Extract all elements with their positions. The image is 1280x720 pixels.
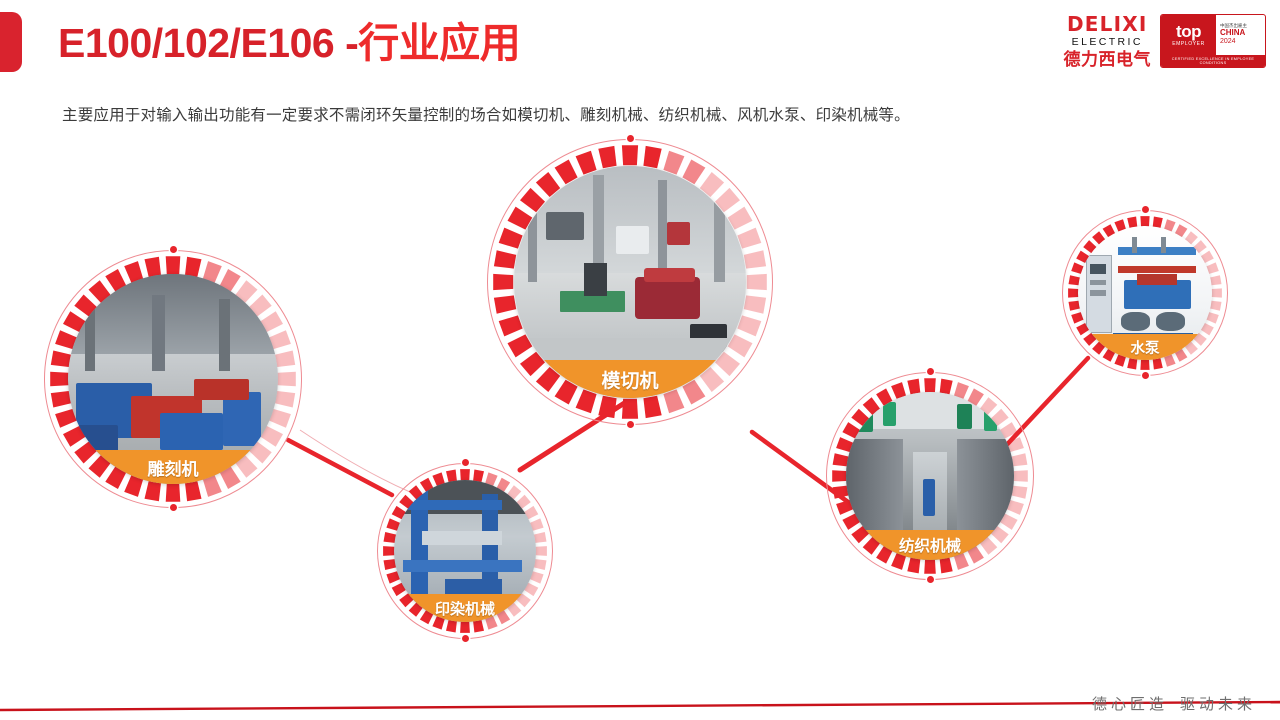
top-employer-top-text: top xyxy=(1176,23,1201,40)
node-photo: 水泵 xyxy=(1078,226,1212,360)
node-anchor-dot xyxy=(170,504,177,511)
node-photo: 模切机 xyxy=(514,166,746,398)
page-title-latin: E100/102/E106 - xyxy=(58,20,358,66)
node-photo: 纺织机械 xyxy=(846,392,1014,560)
top-employer-badge: top EMPLOYER 中国杰出雇主 CHINA 2024 CERTIFIED… xyxy=(1160,14,1266,68)
page-title: E100/102/E106 -行业应用 xyxy=(58,18,520,69)
delixi-brand-text: DELIXI xyxy=(1067,14,1148,34)
node-caption: 模切机 xyxy=(514,360,746,398)
delixi-chinese-text: 德力西电气 xyxy=(1064,51,1152,68)
logo-group: DELIXI ELECTRIC 德力西电气 top EMPLOYER 中国杰出雇… xyxy=(1064,14,1267,68)
node-caption-label: 水泵 xyxy=(1131,337,1160,358)
node-caption: 雕刻机 xyxy=(68,450,278,484)
node-caption: 印染机械 xyxy=(394,594,536,622)
top-employer-year: 2024 xyxy=(1220,38,1265,47)
footer-divider xyxy=(0,680,1280,720)
node-caption-label: 纺织机械 xyxy=(899,534,961,556)
node-anchor-dot xyxy=(170,246,177,253)
top-employer-employer-text: EMPLOYER xyxy=(1172,42,1205,47)
node-engraving[interactable]: 雕刻机 xyxy=(44,250,302,508)
top-employer-info: 中国杰出雇主 CHINA 2024 xyxy=(1216,15,1265,55)
node-photo: 印染机械 xyxy=(394,480,536,622)
node-caption: 纺织机械 xyxy=(846,530,1014,560)
node-anchor-dot xyxy=(1142,372,1149,379)
slide-root: E100/102/E106 -行业应用 主要应用于对输入输出功能有一定要求不需闭… xyxy=(0,0,1280,720)
node-waterpump[interactable]: 水泵 xyxy=(1062,210,1228,376)
node-caption: 水泵 xyxy=(1078,334,1212,360)
node-anchor-dot xyxy=(627,135,634,142)
top-employer-footer-text: CERTIFIED EXCELLENCE IN EMPLOYEE CONDITI… xyxy=(1161,55,1265,67)
node-anchor-dot xyxy=(1142,206,1149,213)
node-diecutting[interactable]: 模切机 xyxy=(487,139,773,425)
node-printdye[interactable]: 印染机械 xyxy=(377,463,553,639)
page-title-cjk: 行业应用 xyxy=(358,20,520,66)
industry-application-diagram: 雕刻机 xyxy=(0,130,1280,660)
footer-slogan-right: 驱动未来 xyxy=(1180,696,1256,713)
delixi-logo: DELIXI ELECTRIC 德力西电气 xyxy=(1064,14,1152,68)
top-employer-mark: top EMPLOYER xyxy=(1161,15,1216,55)
node-anchor-dot xyxy=(462,635,469,642)
title-accent-bar xyxy=(0,12,22,72)
node-anchor-dot xyxy=(927,576,934,583)
node-anchor-dot xyxy=(927,368,934,375)
node-caption-label: 雕刻机 xyxy=(148,455,199,480)
top-employer-country: CHINA xyxy=(1220,28,1265,38)
node-anchor-dot xyxy=(627,421,634,428)
page-subtitle: 主要应用于对输入输出功能有一定要求不需闭环矢量控制的场合如模切机、雕刻机械、纺织… xyxy=(62,103,910,125)
node-photo: 雕刻机 xyxy=(68,274,278,484)
delixi-sub-text: ELECTRIC xyxy=(1072,37,1143,48)
node-textile[interactable]: 纺织机械 xyxy=(826,372,1034,580)
footer-slogan-left: 德心匠造 xyxy=(1092,696,1168,713)
node-caption-label: 印染机械 xyxy=(435,598,495,619)
top-employer-badge-body: top EMPLOYER 中国杰出雇主 CHINA 2024 xyxy=(1161,15,1265,55)
node-caption-label: 模切机 xyxy=(601,366,658,393)
footer-slogan: 德心匠造驱动未来 xyxy=(1092,693,1256,714)
node-anchor-dot xyxy=(462,459,469,466)
